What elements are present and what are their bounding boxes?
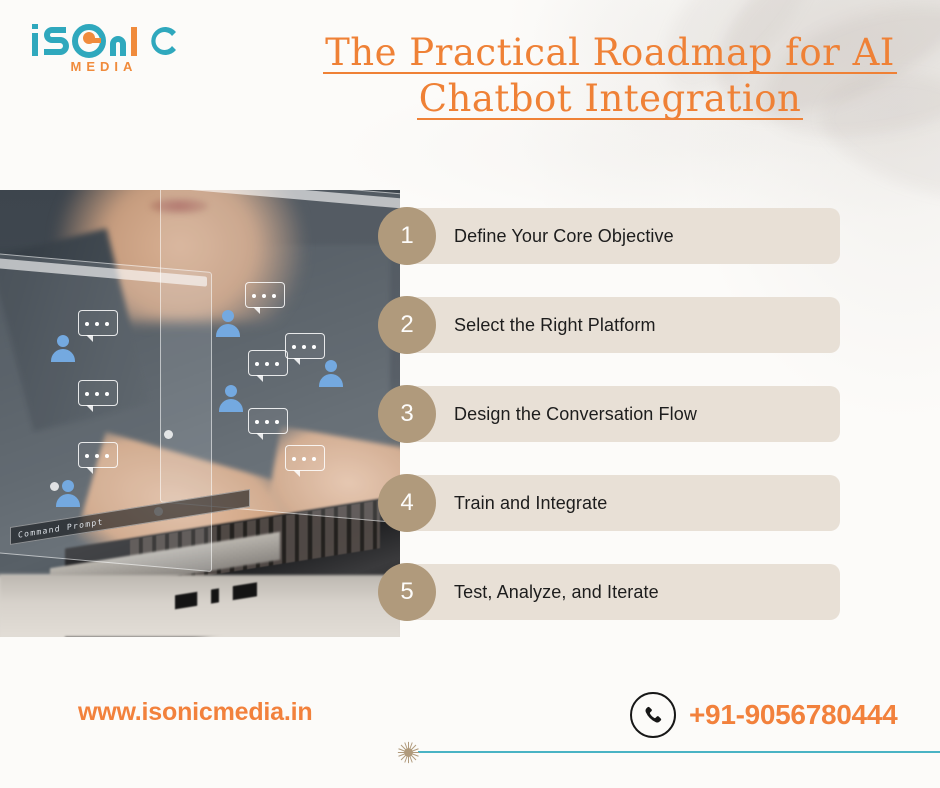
hero-photo: Command Prompt [0,190,400,637]
step-bar: Test, Analyze, and Iterate [406,564,840,620]
list-item[interactable]: Test, Analyze, and Iterate 5 [378,564,840,620]
step-bar: Train and Integrate [406,475,840,531]
list-item[interactable]: Design the Conversation Flow 3 [378,386,840,442]
phone-icon [630,692,676,738]
step-number-badge: 4 [378,474,436,532]
step-label: Test, Analyze, and Iterate [454,582,659,603]
step-label: Design the Conversation Flow [454,404,697,425]
step-number-badge: 2 [378,296,436,354]
user-avatar-icon-2 [215,310,241,336]
step-bar: Select the Right Platform [406,297,840,353]
phone-contact[interactable]: +91-9056780444 [630,692,897,738]
page-title-line-1: The Practical Roadmap for AI [323,30,897,76]
brand-logo[interactable]: MEDIA [30,22,178,74]
step-bar: Design the Conversation Flow [406,386,840,442]
chat-bubble-icon-8 [285,445,325,471]
list-item[interactable]: Train and Integrate 4 [378,475,840,531]
user-avatar-icon-5 [318,360,344,386]
step-label: Select the Right Platform [454,315,656,336]
step-number-badge: 5 [378,563,436,621]
list-item[interactable]: Define Your Core Objective 1 [378,208,840,264]
footer-divider-line [418,751,940,753]
user-avatar-icon-3 [218,385,244,411]
step-label: Train and Integrate [454,493,607,514]
logo-subtitle: MEDIA [30,59,178,74]
chat-bubble-icon-5 [78,380,118,406]
website-link[interactable]: www.isonicmedia.in [78,698,312,727]
step-bar: Define Your Core Objective [406,208,840,264]
photo-light-dot-2 [164,430,173,439]
list-item[interactable]: Select the Right Platform 2 [378,297,840,353]
starburst-ornament-icon [396,740,421,765]
user-avatar-icon-1 [50,335,76,361]
chat-bubble-icon-1 [78,310,118,336]
page-title-line-2: Chatbot Integration [417,76,804,122]
photo-light-dot-3 [50,482,59,491]
roadmap-steps-list: Define Your Core Objective 1 Select the … [378,208,840,653]
step-label: Define Your Core Objective [454,226,674,247]
user-avatar-icon-4 [55,480,81,506]
step-number-badge: 3 [378,385,436,443]
isonic-wordmark-icon [30,22,178,58]
chat-bubble-icon-7 [78,442,118,468]
step-number-badge: 1 [378,207,436,265]
chat-bubble-icon-3 [248,350,288,376]
page-title: The Practical Roadmap for AI Chatbot Int… [300,30,920,122]
phone-number: +91-9056780444 [689,699,897,731]
chat-bubble-icon-6 [248,408,288,434]
chat-bubble-icon-4 [285,333,325,359]
chat-bubble-icon-2 [245,282,285,308]
photo-desk-surface [0,575,400,637]
